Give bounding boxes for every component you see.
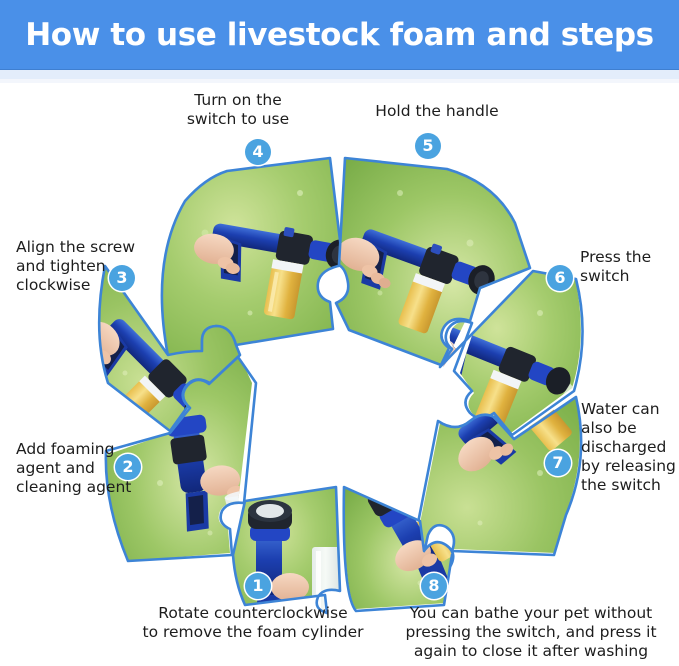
step-badge-4[interactable]: 4 bbox=[245, 139, 271, 165]
step-badge-8[interactable]: 8 bbox=[421, 573, 447, 599]
step-badge-1[interactable]: 1 bbox=[245, 573, 271, 599]
step-caption-4: Turn on the switch to use bbox=[168, 91, 308, 129]
step-badge-6[interactable]: 6 bbox=[547, 265, 573, 291]
step-caption-3: Align the screw and tighten clockwise bbox=[16, 238, 141, 295]
header-banner: How to use livestock foam and steps bbox=[0, 0, 679, 69]
step-caption-8: You can bathe your pet without pressing … bbox=[390, 604, 672, 661]
step-badge-5[interactable]: 5 bbox=[415, 133, 441, 159]
step-badge-7[interactable]: 7 bbox=[545, 450, 571, 476]
step-caption-7: Water can also be discharged by releasin… bbox=[581, 400, 677, 495]
step-caption-1: Rotate counterclockwise to remove the fo… bbox=[108, 604, 398, 642]
steps-puzzle-ring: 4 5 3 6 2 7 1 8 bbox=[0, 83, 679, 666]
step-piece-4[interactable] bbox=[162, 158, 355, 356]
page-title: How to use livestock foam and steps bbox=[25, 17, 653, 53]
step-caption-6: Press the switch bbox=[580, 248, 675, 286]
step-caption-2: Add foaming agent and cleaning agent bbox=[16, 440, 146, 497]
step-caption-5: Hold the handle bbox=[369, 102, 505, 121]
ring-graphic bbox=[0, 83, 679, 666]
